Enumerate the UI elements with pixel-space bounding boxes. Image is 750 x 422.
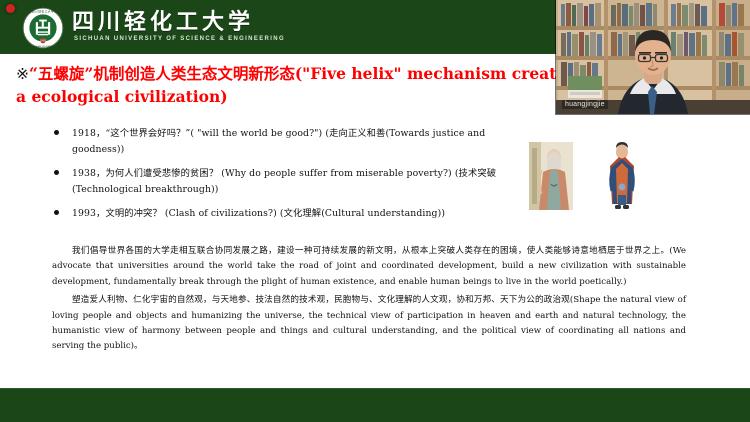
recording-dot-icon — [6, 4, 15, 13]
bullet-text: 1938，为何人们遭受悲惨的贫困？ (Why do people suffer … — [72, 166, 520, 197]
participant-name-label: huangjingjie — [562, 100, 608, 109]
paragraph: 塑造爱人利物、仁化宇宙的自然观，与天地参、技法自然的技术观，民胞物与、文化理解的… — [52, 293, 686, 355]
slide-title-text: “五螺旋”机制创造人类生态文明新形态("Five helix" mechanis… — [16, 64, 575, 106]
university-name-cn: 四川轻化工大学 — [72, 4, 254, 36]
video-participant-tile[interactable]: huangjingjie — [556, 0, 750, 114]
video-feed — [556, 0, 750, 114]
bullet-list: 1918，“这个世界会好吗？”( "will the world be good… — [50, 126, 520, 231]
title-marker-icon: ※ — [16, 65, 29, 83]
bullet-text: 1993，文明的冲突？ (Clash of civilizations?) (文… — [72, 206, 520, 222]
list-item: 1993，文明的冲突？ (Clash of civilizations?) (文… — [50, 206, 520, 222]
list-item: 1938，为何人们遭受悲惨的贫困？ (Why do people suffer … — [50, 166, 520, 197]
svg-text:1965: 1965 — [40, 40, 47, 43]
university-seal-icon: 1965 四川轻化工大学 SICHUAN UNIVERSITY — [22, 7, 64, 49]
plato-painting — [529, 142, 573, 210]
svg-text:四川轻化工大学: 四川轻化工大学 — [32, 9, 54, 13]
list-item: 1918，“这个世界会好吗？”( "will the world be good… — [50, 126, 520, 157]
bullet-dot-icon — [54, 210, 59, 215]
bullet-dot-icon — [54, 170, 59, 175]
slide-title: ※“五螺旋”机制创造人类生态文明新形态("Five helix" mechani… — [16, 63, 576, 109]
paragraph: 我们倡导世界各国的大学走相互联合协同发展之路，建设一种可持续发展的新文明，从根本… — [52, 244, 686, 290]
screen: 1965 四川轻化工大学 SICHUAN UNIVERSITY 四川轻化工大学 … — [0, 0, 750, 422]
slide-footer-band: 教育与心理科学学院 · 教师教育学院 — [0, 389, 750, 422]
university-name-en: SICHUAN UNIVERSITY OF SCIENCE & ENGINEER… — [74, 36, 285, 42]
bullet-text: 1918，“这个世界会好吗？”( "will the world be good… — [72, 126, 520, 157]
bullet-dot-icon — [54, 130, 59, 135]
paragraph-block: 我们倡导世界各国的大学走相互联合协同发展之路，建设一种可持续发展的新文明，从根本… — [52, 244, 686, 358]
confucius-illustration — [600, 141, 644, 211]
